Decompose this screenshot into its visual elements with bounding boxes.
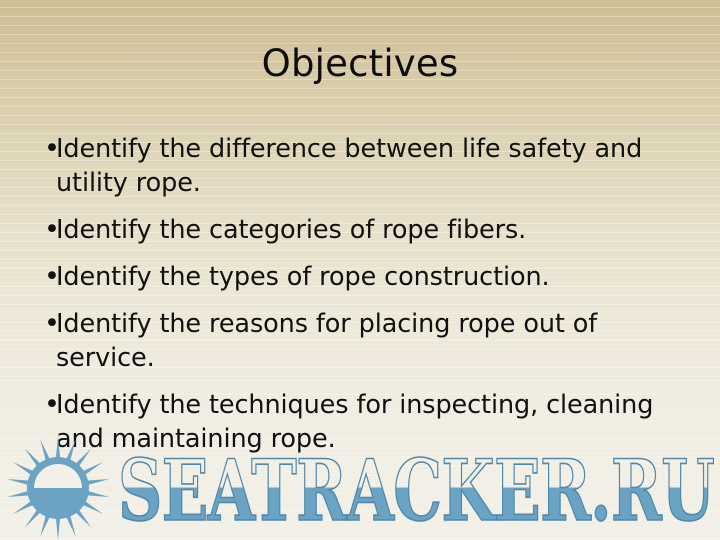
list-item: • Identify the reasons for placing rope … xyxy=(34,307,689,375)
bullet-point-icon: • xyxy=(34,132,56,166)
list-item-text: Identify the techniques for inspecting, … xyxy=(56,388,689,456)
bullet-point-icon: • xyxy=(34,388,56,422)
slide-title: Objectives xyxy=(0,42,720,86)
bullet-list: • Identify the difference between life s… xyxy=(34,132,689,469)
presentation-slide: Objectives • Identify the difference bet… xyxy=(0,0,720,540)
bullet-point-icon: • xyxy=(34,213,56,247)
list-item-text: Identify the reasons for placing rope ou… xyxy=(56,307,689,375)
list-item: • Identify the types of rope constructio… xyxy=(34,260,689,294)
list-item-text: Identify the categories of rope fibers. xyxy=(56,213,689,247)
bullet-point-icon: • xyxy=(34,260,56,294)
list-item: • Identify the difference between life s… xyxy=(34,132,689,200)
list-item: • Identify the techniques for inspecting… xyxy=(34,388,689,456)
bullet-point-icon: • xyxy=(34,307,56,341)
list-item-text: Identify the difference between life saf… xyxy=(56,132,689,200)
list-item: • Identify the categories of rope fibers… xyxy=(34,213,689,247)
list-item-text: Identify the types of rope construction. xyxy=(56,260,689,294)
